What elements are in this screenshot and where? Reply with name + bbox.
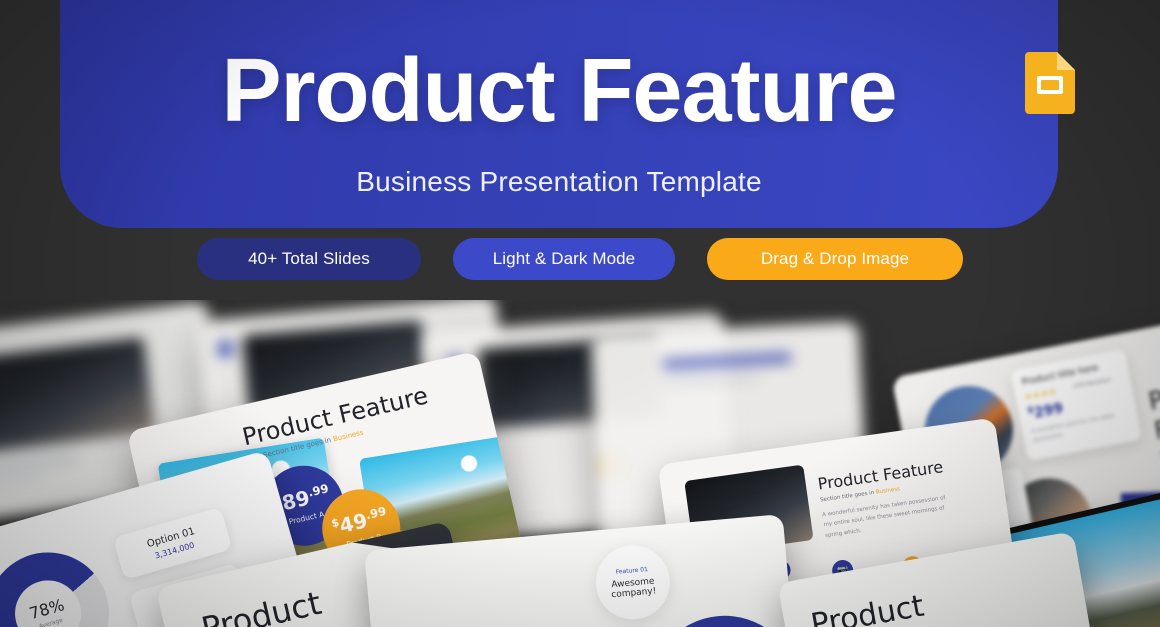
hero-panel: Product Feature Business Presentation Te…: [60, 0, 1058, 228]
screenshot-root: Product title here ★★★★ (476 Reviews) $2…: [0, 0, 1160, 627]
catalog-title-line-1: Product: [1146, 369, 1160, 416]
badge-drag-drop-image[interactable]: Drag & Drop Image: [707, 238, 963, 280]
price-cents: .99: [307, 481, 330, 499]
review-count: (476 Reviews): [1072, 377, 1111, 390]
bottom-left-title: Product: [198, 584, 325, 627]
feature-badges: 40+ Total Slides Light & Dark Mode Drag …: [0, 238, 1160, 280]
google-slides-icon[interactable]: [1025, 52, 1075, 114]
slides-showcase: Product title here ★★★★ (476 Reviews) $2…: [0, 300, 1160, 627]
badge-total-slides[interactable]: 40+ Total Slides: [197, 238, 421, 280]
testimonial-bubble: Feature 01 Awesome company!: [593, 542, 673, 622]
page-title: Product Feature: [60, 46, 1058, 136]
pricing-subtitle-accent: Business: [332, 429, 364, 444]
price-cents: .99: [364, 504, 387, 522]
page-subtitle: Business Presentation Template: [60, 166, 1058, 198]
product-price: 299: [1033, 400, 1065, 421]
features-subtitle-accent: Business: [876, 486, 901, 495]
donut-chart: 78% Average: [0, 538, 123, 627]
testimonial-eyebrow: Feature 01: [615, 566, 648, 576]
badge-light-dark-mode[interactable]: Light & Dark Mode: [453, 238, 675, 280]
product-card-1: Product title here ★★★★ (476 Reviews) $2…: [1010, 349, 1141, 461]
rating-stars: ★★★★: [1024, 387, 1058, 402]
bottom-center-title: Product: [808, 589, 926, 627]
testimonial-navy-blob: [643, 610, 800, 627]
